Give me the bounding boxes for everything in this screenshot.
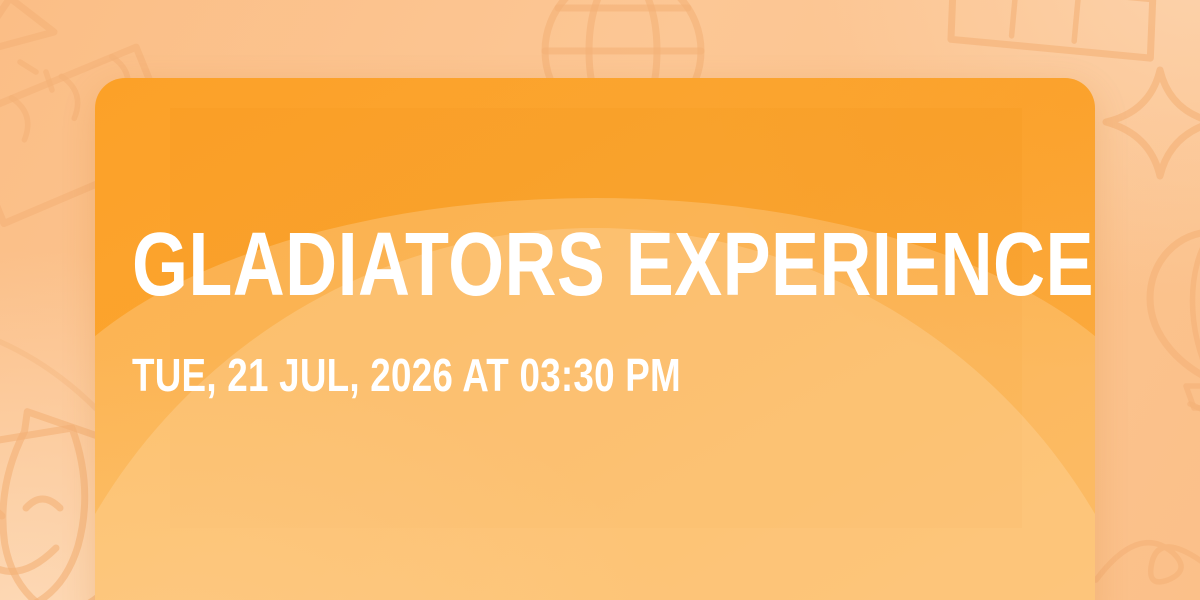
event-title: GLADIATORS EXPERIENCE [132, 222, 870, 308]
sparkle-icon [1098, 60, 1200, 190]
map-pin-icon [522, 0, 582, 26]
hot-air-balloon-icon [1122, 218, 1200, 418]
event-card-content: GLADIATORS EXPERIENCE TUE, 21 JUL, 2026 … [132, 78, 1055, 600]
confetti-icon [0, 0, 88, 96]
swirl-line-icon [1086, 408, 1200, 600]
event-card: GLADIATORS EXPERIENCE TUE, 21 JUL, 2026 … [95, 78, 1095, 600]
event-datetime: TUE, 21 JUL, 2026 AT 03:30 PM [132, 352, 870, 398]
event-banner: GLADIATORS EXPERIENCE TUE, 21 JUL, 2026 … [0, 0, 1200, 600]
